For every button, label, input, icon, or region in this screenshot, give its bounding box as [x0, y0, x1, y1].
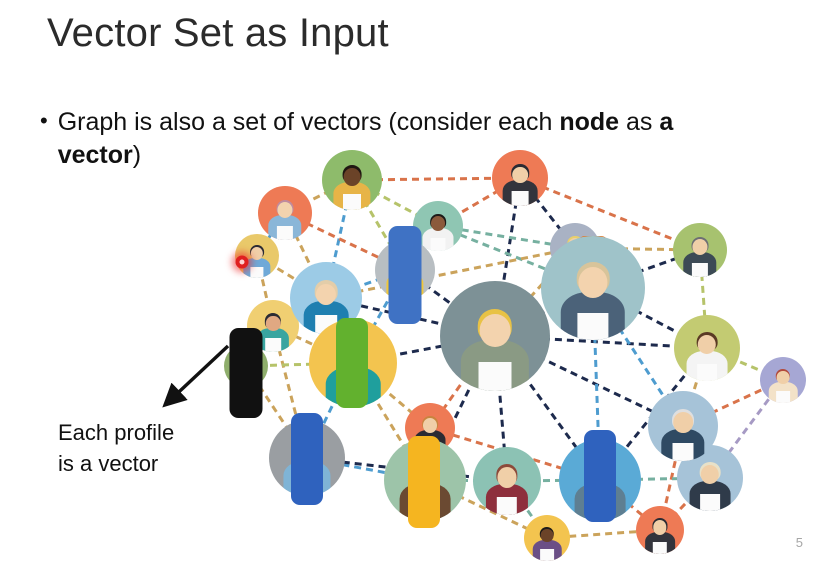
avatar-shirt [697, 364, 717, 381]
bullet-span: ) [133, 141, 141, 169]
graph-node-avatar-green-top[interactable] [322, 150, 382, 210]
avatar-head [777, 371, 790, 385]
bullet-span: as [619, 108, 659, 136]
avatar-shirt [343, 194, 361, 210]
avatar-head [480, 314, 511, 347]
annotation-caption: Each profile is a vector [58, 417, 174, 479]
slide-number: 5 [796, 535, 803, 550]
graph-node-avatar-purple-right[interactable] [760, 357, 806, 403]
avatar-head [423, 418, 437, 433]
avatar-shirt [497, 497, 517, 515]
avatar-shirt [512, 191, 529, 206]
avatar-head [344, 168, 361, 186]
bullet-bold-term: node [559, 108, 619, 136]
slide-canvas: Vector Set as Input • Graph is also a se… [0, 0, 825, 563]
avatar-shirt [673, 443, 694, 461]
graph-node-avatar-orange-top[interactable] [492, 150, 548, 206]
avatar-head [512, 167, 528, 184]
avatar-shirt [653, 542, 667, 554]
vector-rect-vector-green[interactable] [336, 318, 368, 408]
caption-line-1: Each profile [58, 417, 174, 448]
avatar-head [578, 267, 607, 298]
social-network-graph [230, 158, 810, 550]
page-title: Vector Set as Input [47, 10, 747, 56]
graph-node-avatar-orange-upper-left[interactable] [258, 186, 312, 240]
avatar-shirt [700, 494, 720, 511]
graph-node-avatar-orange-bottom[interactable] [636, 506, 684, 554]
notification-dot-icon[interactable] [236, 256, 249, 269]
graph-node-avatar-orange-vector-big[interactable] [541, 236, 645, 340]
vector-rect-vector-blue-bottom[interactable] [584, 430, 616, 522]
bullet-marker: • [40, 106, 48, 136]
avatar-shirt [277, 226, 293, 240]
avatar-head [673, 412, 693, 433]
vector-rect-vector-blue-lower-left[interactable] [291, 413, 323, 505]
avatar-shirt [431, 238, 446, 251]
vector-rect-vector-yellow[interactable] [408, 436, 440, 528]
graph-node-avatar-gray-hair[interactable] [648, 391, 718, 461]
avatar-head [701, 465, 719, 485]
avatar-shirt [776, 391, 790, 403]
graph-node-avatar-teal-glasses[interactable] [473, 447, 541, 515]
graph-node-avatar-center-big[interactable] [440, 281, 550, 391]
avatar-shirt [540, 549, 554, 561]
avatar-head [266, 316, 281, 331]
avatar-shirt [265, 338, 281, 352]
avatar-shirt [692, 263, 708, 277]
vector-rect-vector-blue-top[interactable] [389, 226, 422, 324]
vector-rect-vector-black-highlighted[interactable] [230, 328, 263, 418]
graph-node-avatar-green-right[interactable] [673, 223, 727, 277]
graph-node-avatar-yellow-bottom[interactable] [524, 515, 570, 561]
avatar-head [277, 202, 292, 218]
avatar-head [541, 529, 554, 543]
avatar-shirt [479, 362, 512, 391]
avatar-shirt [577, 313, 608, 340]
graph-node-avatar-olive-woman[interactable] [674, 315, 740, 381]
avatar-head [431, 216, 445, 231]
avatar-head [698, 335, 716, 355]
bullet-span: Graph is also a set of vectors (consider… [58, 108, 560, 136]
graph-edge [326, 248, 575, 298]
caption-line-2: is a vector [58, 448, 174, 479]
pointer-arrow [150, 340, 240, 425]
avatar-shirt [250, 267, 263, 278]
avatar-head [692, 239, 707, 255]
